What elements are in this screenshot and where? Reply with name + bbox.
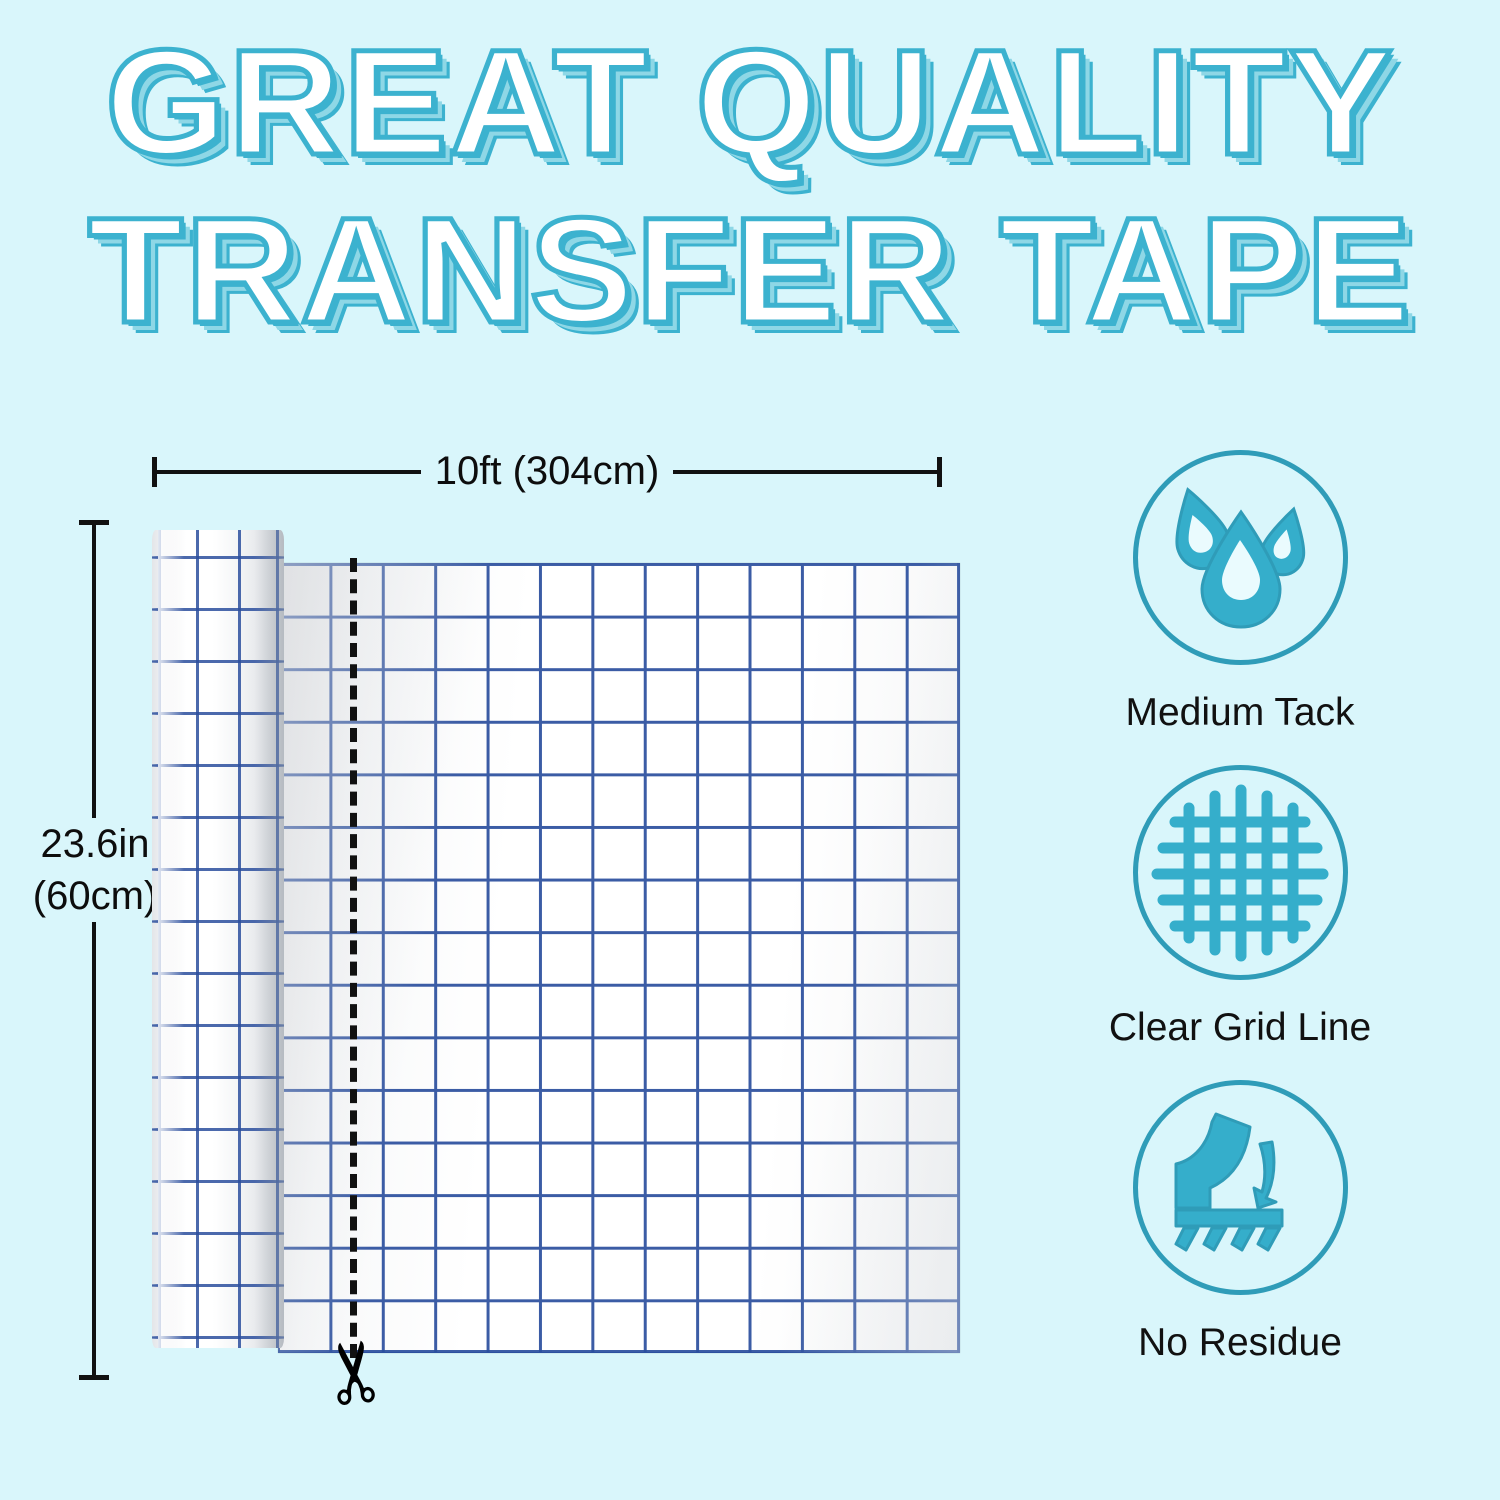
roll-highlight [158,530,184,1348]
tape-roll [152,530,284,1348]
height-dimension-line [92,520,96,1380]
scissors-icon: ✂ [310,1333,401,1412]
feature-label-no-residue: No Residue [1050,1321,1430,1365]
title-line-2: TRANSFER TAPE [0,186,1500,354]
feature-label-clear-grid-line: Clear Grid Line [1050,1006,1430,1050]
grid-lines [278,563,960,1353]
feature-label-medium-tack: Medium Tack [1050,691,1430,735]
grid-sheet [278,563,960,1353]
roll-shadow [254,530,284,1348]
infographic-canvas: GREAT QUALITY TRANSFER TAPE 10ft (304cm)… [0,0,1500,1500]
height-dimension-cap-bottom [79,1375,109,1380]
peel-film-icon [1133,1080,1348,1295]
width-dimension-label-wrap: 10ft (304cm) [152,440,942,502]
page-title: GREAT QUALITY TRANSFER TAPE [0,18,1500,354]
height-dimension-cap-top [79,520,109,525]
feature-item-no-residue: No Residue [1050,1080,1430,1365]
feature-list: Medium Tack [1050,450,1430,1387]
water-drops-icon [1133,450,1348,665]
feature-item-medium-tack: Medium Tack [1050,450,1430,735]
sheet-edge-right [957,563,960,1353]
width-dimension-label: 10ft (304cm) [421,440,674,502]
grid-mesh-icon [1133,765,1348,980]
title-line-1: GREAT QUALITY [0,18,1500,186]
dashed-cut-line [350,558,357,1358]
feature-item-clear-grid-line: Clear Grid Line [1050,765,1430,1050]
